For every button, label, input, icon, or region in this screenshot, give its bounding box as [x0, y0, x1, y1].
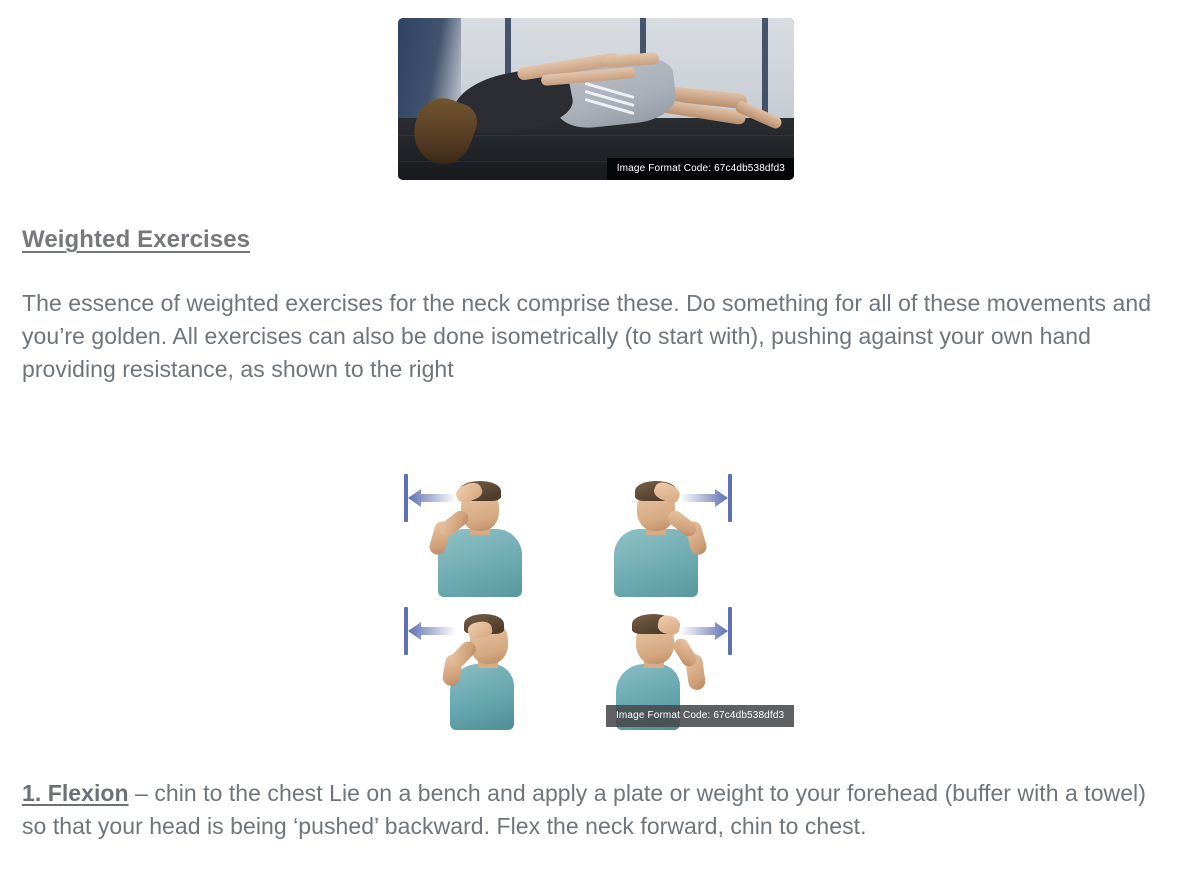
- isometric-neck-resistance-grid: © HealthWise, Incorporated: [398, 465, 738, 730]
- figure-front-view: [606, 477, 706, 597]
- item-1-body: – chin to the chest Lie on a bench and a…: [22, 780, 1146, 839]
- figure-shirt: [438, 529, 522, 597]
- paragraph-item-1-flexion: 1. Flexion – chin to the chest Lie on a …: [22, 777, 1167, 843]
- figure-side-view: [434, 610, 534, 730]
- item-1-label: 1. Flexion: [22, 780, 129, 806]
- resistance-bar: [728, 474, 732, 522]
- figure-shirt: [616, 664, 680, 730]
- back-bridge-photo: Image Format Code: 67c4db538dfd3: [398, 18, 794, 180]
- heading-text: Weighted Exercises: [22, 226, 250, 253]
- resistance-bar: [728, 607, 732, 655]
- figure-shirt: [614, 529, 698, 597]
- wall-seam: [762, 18, 768, 125]
- figure-front-view: [430, 477, 530, 597]
- panel-flexion-forward: © HealthWise, Incorporated: [568, 598, 738, 730]
- copyright-faint-text: © HealthWise, Incorporated: [636, 707, 734, 716]
- paragraph-intro: The essence of weighted exercises for th…: [22, 287, 1162, 386]
- panel-lateral-flexion-right: [568, 465, 738, 597]
- panel-lateral-flexion-left: [398, 465, 568, 597]
- panel-extension-backward: [398, 598, 568, 730]
- mat-seam: [398, 161, 794, 162]
- page-heading-weighted-exercises: Weighted Exercises: [22, 226, 250, 254]
